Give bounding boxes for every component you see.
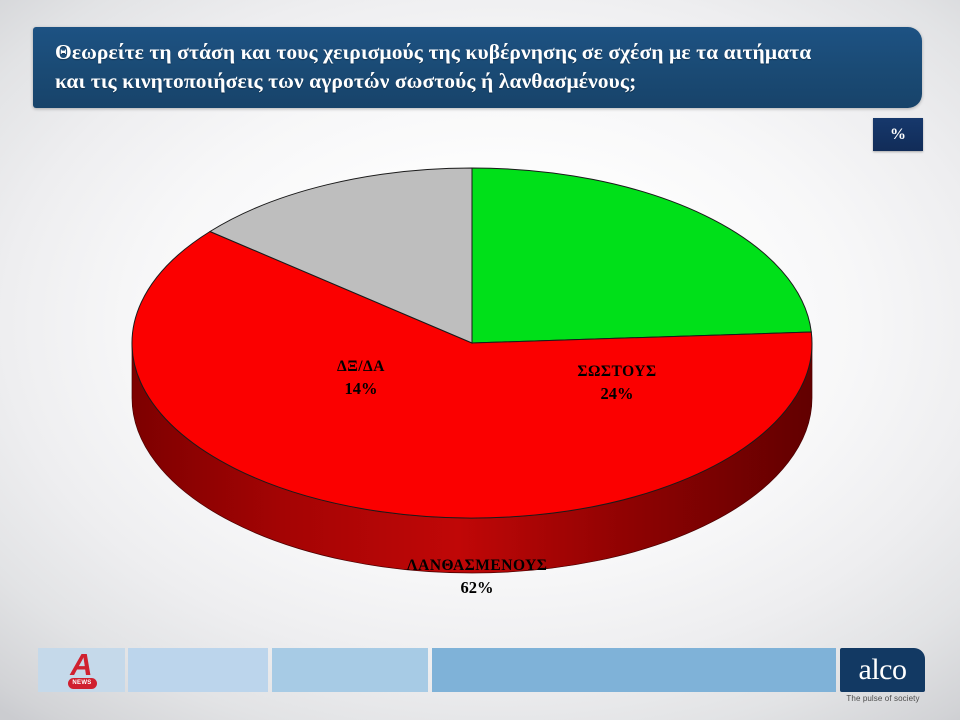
footer-block-logo: Α NEWS [38,648,125,692]
alpha-news-logo: Α NEWS [38,648,125,692]
footer-bar: Α NEWS alco The pulse of society [0,648,960,720]
page-title: Θεωρείτε τη στάση και τους χειρισμούς τη… [55,38,900,95]
pie-chart: ΣΩΣΤΟΥΣ 24% ΛΑΝΘΑΣΜΕΝΟΥΣ 62% ΔΞ/ΔΑ 14% [0,150,960,620]
slide-canvas: Θεωρείτε τη στάση και τους χειρισμούς τη… [0,0,960,720]
footer-block-1 [128,648,268,692]
percent-unit-badge: % [873,118,923,151]
footer-block-3 [432,648,836,692]
pie-chart-svg [0,150,960,620]
footer-block-2 [272,648,428,692]
pie-slice-correct [472,168,811,343]
alco-logo: alco [840,648,925,692]
alpha-letter-icon: Α NEWS [65,651,99,689]
alpha-news-badge: NEWS [68,678,97,689]
title-banner: Θεωρείτε τη στάση και τους χειρισμούς τη… [33,27,922,108]
alco-tagline: The pulse of society [838,694,928,703]
alpha-letter-glyph: Α [65,651,99,681]
